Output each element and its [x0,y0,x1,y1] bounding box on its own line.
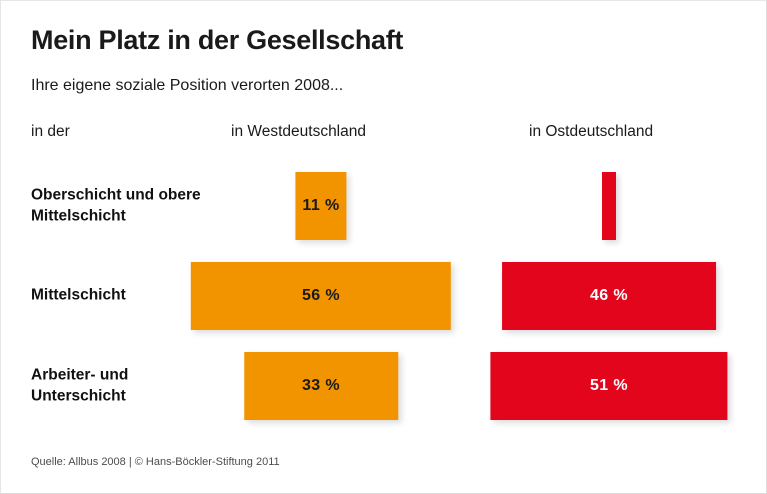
bar-ost: 51 % [490,352,727,420]
bar-cell-west: 33 % [189,352,453,420]
bar-cell-west: 56 % [189,262,453,330]
table-row: Arbeiter- und Unterschicht 33 % 51 % [1,341,767,431]
chart-rows: Oberschicht und obere Mittelschicht 11 %… [1,161,767,431]
source-note: Quelle: Allbus 2008 | © Hans-Böckler-Sti… [31,456,280,468]
bar-cell-ost: 3 % [477,172,741,240]
bar-value-ost: 51 % [590,377,628,395]
column-header-row: in der in Westdeutschland in Ostdeutschl… [1,123,767,145]
bar-value-ost: 46 % [590,287,628,305]
bar-cell-ost: 46 % [477,262,741,330]
row-label: Arbeiter- und Unterschicht [31,365,211,406]
infographic-card: Mein Platz in der Gesellschaft Ihre eige… [0,0,767,494]
chart-subtitle: Ihre eigene soziale Position verorten 20… [31,77,343,95]
column-header-west: in Westdeutschland [231,123,366,141]
table-row: Mittelschicht 56 % 46 % [1,251,767,341]
bar-ost: 3 % [602,172,616,240]
row-label: Oberschicht und obere Mittelschicht [31,185,211,226]
page-title: Mein Platz in der Gesellschaft [31,25,403,56]
bar-value-west: 56 % [302,287,340,305]
row-label: Mittelschicht [31,286,211,307]
bar-west: 33 % [244,352,398,420]
bar-value-west: 33 % [302,377,340,395]
bar-value-west: 11 % [302,197,339,215]
bar-value-ost: 3 % [561,197,590,215]
bar-west: 11 % [295,172,346,240]
bar-west: 56 % [191,262,451,330]
bar-cell-west: 11 % [189,172,453,240]
bar-cell-ost: 51 % [477,352,741,420]
column-header-ost: in Ostdeutschland [529,123,653,141]
bar-ost: 46 % [502,262,716,330]
column-header-category: in der [31,123,70,141]
table-row: Oberschicht und obere Mittelschicht 11 %… [1,161,767,251]
